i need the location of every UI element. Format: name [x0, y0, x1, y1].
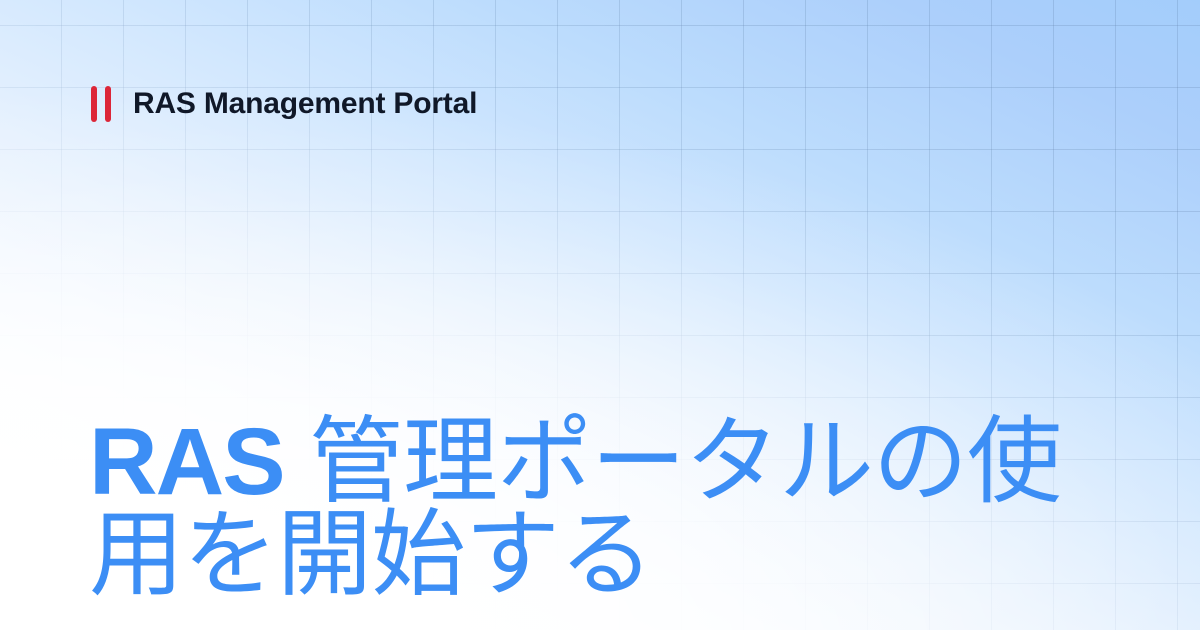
logo-bar-left	[91, 86, 97, 122]
brand-title: RAS Management Portal	[133, 86, 477, 122]
page-title: RAS 管理ポータルの使用を開始する	[89, 416, 1099, 602]
logo-bar-right	[105, 86, 111, 122]
og-card: RAS Management Portal RAS 管理ポータルの使用を開始する	[0, 0, 1200, 630]
headline-latin-prefix: RAS	[89, 409, 284, 515]
brand-header: RAS Management Portal	[91, 84, 477, 124]
double-bar-logo-mark-icon	[91, 86, 111, 122]
headline-separator	[284, 409, 309, 515]
